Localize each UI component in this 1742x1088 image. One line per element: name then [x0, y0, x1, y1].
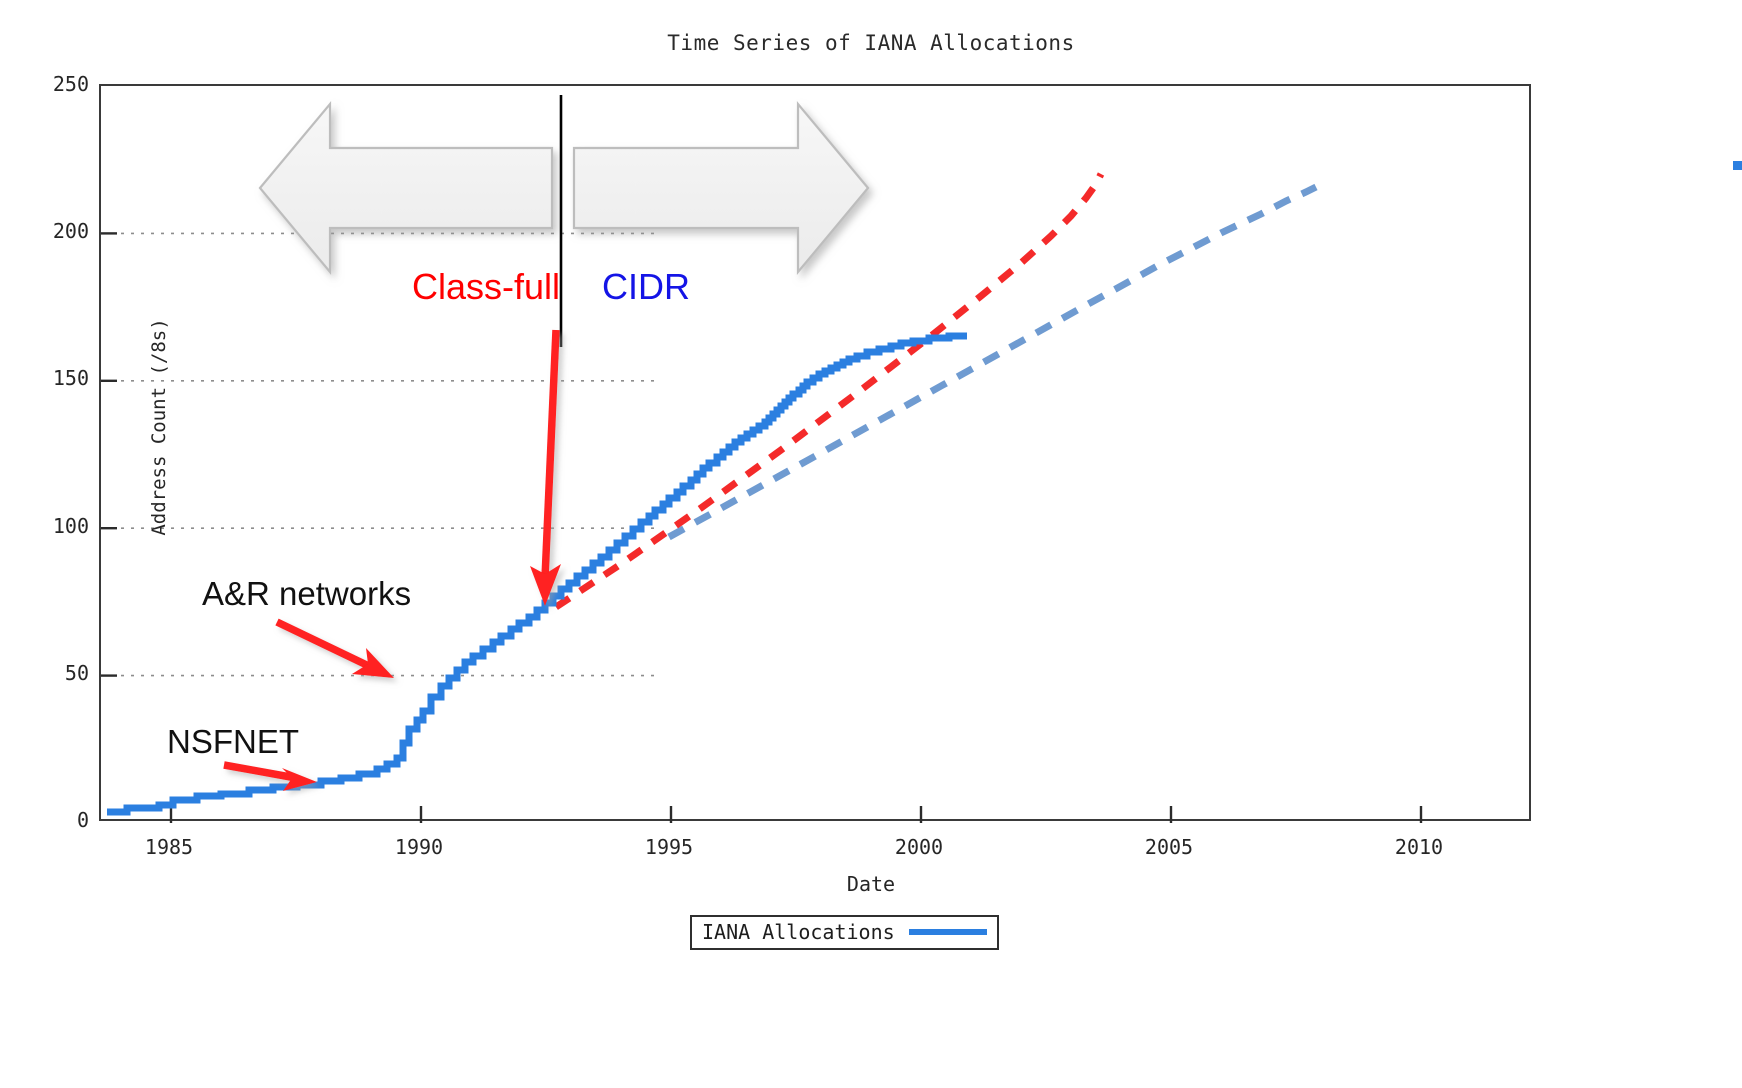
- x-tick-1995: 1995: [609, 835, 729, 859]
- x-tick-2005: 2005: [1109, 835, 1229, 859]
- x-axis-title: Date: [0, 872, 1742, 896]
- x-tick-2000: 2000: [859, 835, 979, 859]
- legend-entry-label: IANA Allocations: [702, 920, 895, 944]
- series-classfull-projection: [556, 174, 1101, 607]
- chart-canvas: Time Series of IANA Allocations: [0, 0, 1742, 1088]
- y-axis-title: Address Count (/8s): [148, 297, 170, 557]
- x-tick-1990: 1990: [359, 835, 479, 859]
- annotation-ar-networks: A&R networks: [202, 575, 411, 613]
- y-tick-250: 250: [15, 72, 89, 96]
- chart-title: Time Series of IANA Allocations: [0, 31, 1742, 55]
- y-tick-150: 150: [15, 366, 89, 390]
- annotation-cidr: CIDR: [602, 266, 690, 308]
- legend-line-swatch: [909, 929, 987, 935]
- x-tick-1985: 1985: [109, 835, 229, 859]
- annotation-nsfnet: NSFNET: [167, 723, 299, 761]
- y-tick-100: 100: [15, 514, 89, 538]
- series-cidr-projection: [669, 187, 1316, 537]
- y-axis-ticks: [101, 233, 117, 675]
- annotation-class-full: Class-full: [412, 266, 560, 308]
- plot-area: Address Count (/8s): [99, 84, 1531, 821]
- right-edge-blue-marker: [1733, 161, 1742, 170]
- x-tick-2010: 2010: [1359, 835, 1479, 859]
- y-tick-200: 200: [15, 219, 89, 243]
- plot-svg: [101, 86, 1533, 823]
- x-axis-ticks: [171, 806, 1421, 823]
- y-tick-0: 0: [15, 808, 89, 832]
- chart-legend: IANA Allocations: [690, 915, 999, 950]
- y-tick-50: 50: [15, 661, 89, 685]
